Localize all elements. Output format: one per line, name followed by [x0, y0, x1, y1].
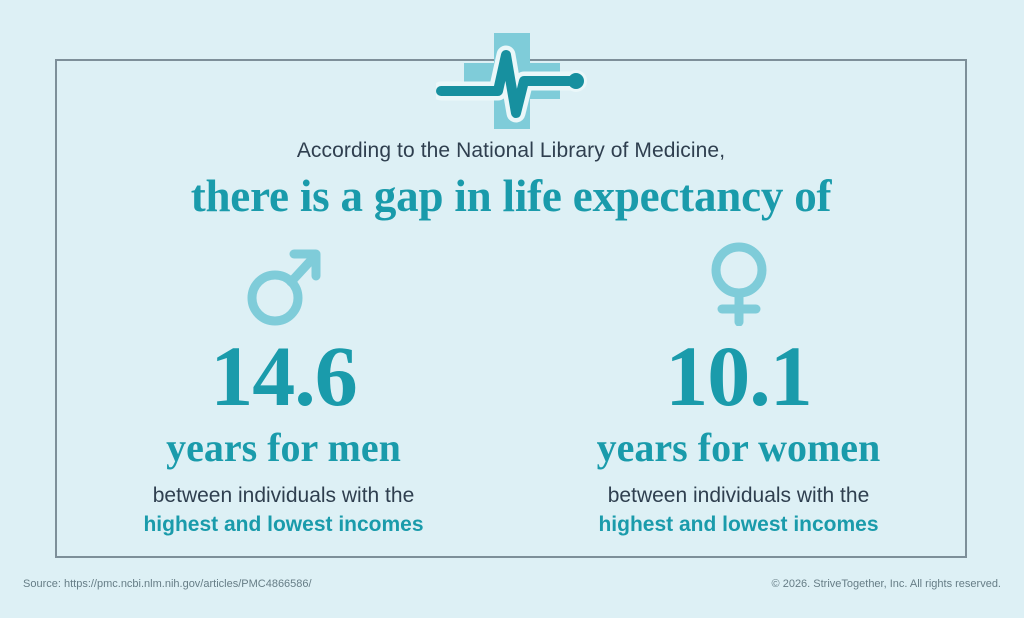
- stat-number-men: 14.6: [56, 336, 511, 418]
- footer-copyright-text: © 2026. StriveTogether, Inc. All rights …: [772, 578, 1001, 590]
- stat-unit-men: years for men: [56, 426, 511, 470]
- stat-column-women: 10.1 years for women between individuals…: [511, 240, 966, 538]
- footer-source-text: Source: https://pmc.ncbi.nlm.nih.gov/art…: [23, 578, 312, 590]
- stat-subline-women-2: highest and lowest incomes: [511, 512, 966, 538]
- stat-subline-men-2: highest and lowest incomes: [56, 512, 511, 538]
- medical-cross-heartbeat-icon: [436, 33, 588, 129]
- headline-main: there is a gap in life expectancy of: [56, 170, 966, 223]
- headline-block: According to the National Library of Med…: [56, 138, 966, 223]
- stat-subline-women-1: between individuals with the: [511, 483, 966, 509]
- headline-eyebrow: According to the National Library of Med…: [56, 138, 966, 163]
- stat-subline-men-1: between individuals with the: [56, 483, 511, 509]
- stat-unit-women: years for women: [511, 426, 966, 470]
- infographic-canvas: According to the National Library of Med…: [0, 0, 1024, 618]
- footer: Source: https://pmc.ncbi.nlm.nih.gov/art…: [0, 578, 1024, 598]
- stat-column-men: 14.6 years for men between individuals w…: [56, 240, 511, 538]
- female-gender-icon: [511, 240, 966, 328]
- male-gender-icon: [56, 240, 511, 328]
- stat-number-women: 10.1: [511, 336, 966, 418]
- statistics-row: 14.6 years for men between individuals w…: [56, 240, 966, 538]
